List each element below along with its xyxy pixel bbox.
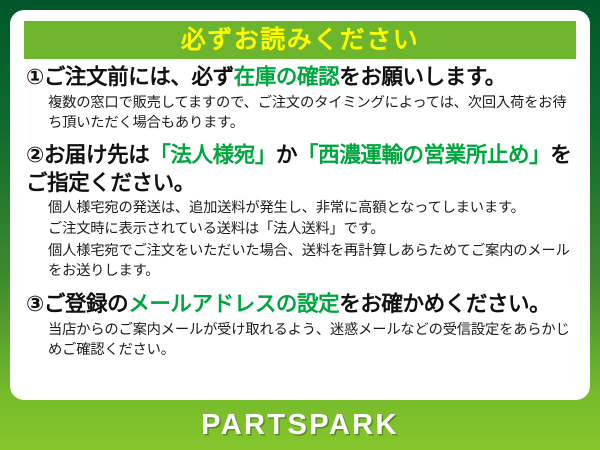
notice-item-2-heading-middle: か <box>276 143 297 167</box>
notice-item-1-heading-highlight: 在庫の確認 <box>234 65 340 89</box>
item-spacer-2 <box>26 284 574 291</box>
notice-item-3: ③ご登録のメールアドレスの設定をお確かめください。 当店からのご案内メールが受け… <box>26 291 574 360</box>
notice-item-2-detail-line-1: 個人様宅宛の発送は、追加送料が発生し、非常に高額となってしまいます。 <box>48 198 574 218</box>
notice-item-1-marker: ① <box>26 65 44 89</box>
footer-band: PARTSPARK <box>0 400 600 450</box>
notice-item-1-heading-after: をお願いします。 <box>339 65 506 89</box>
notice-list: ①ご注文前には、必ず在庫の確認をお願いします。 複数の窓口で販売してますので、ご… <box>24 59 576 360</box>
notice-item-3-detail: 当店からのご案内メールが受け取れるよう、迷惑メールなどの受信設定をあらかじめご確… <box>48 320 574 361</box>
notice-item-1-heading-before: ご注文前には、必ず <box>44 65 234 89</box>
notice-item-2-detail-line-2: ご注文時に表示されている送料は「法人送料」です。 <box>48 219 574 239</box>
header-banner: 必ずお読みください <box>24 21 576 59</box>
brand-wordmark: PARTSPARK <box>201 411 399 440</box>
notice-item-2-marker: ② <box>26 143 44 167</box>
notice-frame: 必ずお読みください ①ご注文前には、必ず在庫の確認をお願いします。 複数の窓口で… <box>0 0 600 450</box>
notice-item-2: ②お届け先は「法人様宛」か「西濃運輸の営業所止め」をご指定ください。 個人様宅宛… <box>26 142 574 281</box>
notice-item-1-heading: ①ご注文前には、必ず在庫の確認をお願いします。 <box>26 64 574 92</box>
notice-item-3-marker: ③ <box>26 292 44 316</box>
notice-item-1-detail: 複数の窓口で販売してますので、ご注文のタイミングによっては、次回入荷をお待ち頂い… <box>48 93 574 134</box>
notice-item-1: ①ご注文前には、必ず在庫の確認をお願いします。 複数の窓口で販売してますので、ご… <box>26 64 574 133</box>
notice-item-3-heading-highlight: メールアドレスの設定 <box>128 292 339 316</box>
notice-item-2-heading: ②お届け先は「法人様宛」か「西濃運輸の営業所止め」をご指定ください。 <box>26 142 574 197</box>
notice-card: 必ずお読みください ①ご注文前には、必ず在庫の確認をお願いします。 複数の窓口で… <box>10 10 590 400</box>
notice-item-3-heading-after: をお確かめください。 <box>339 292 550 316</box>
notice-item-2-heading-before: お届け先は <box>44 143 150 167</box>
notice-item-2-heading-highlight-2: 「西濃運輸の営業所止め」 <box>297 143 550 167</box>
notice-item-2-heading-highlight: 「法人様宛」 <box>149 143 276 167</box>
page-title: 必ずお読みください <box>181 28 420 53</box>
notice-item-3-heading-before: ご登録の <box>44 292 128 316</box>
notice-item-3-heading: ③ご登録のメールアドレスの設定をお確かめください。 <box>26 291 574 319</box>
notice-item-2-detail-line-3: 個人様宅宛でご注文をいただいた場合、送料を再計算しあらためてご案内のメールをお送… <box>48 241 574 282</box>
